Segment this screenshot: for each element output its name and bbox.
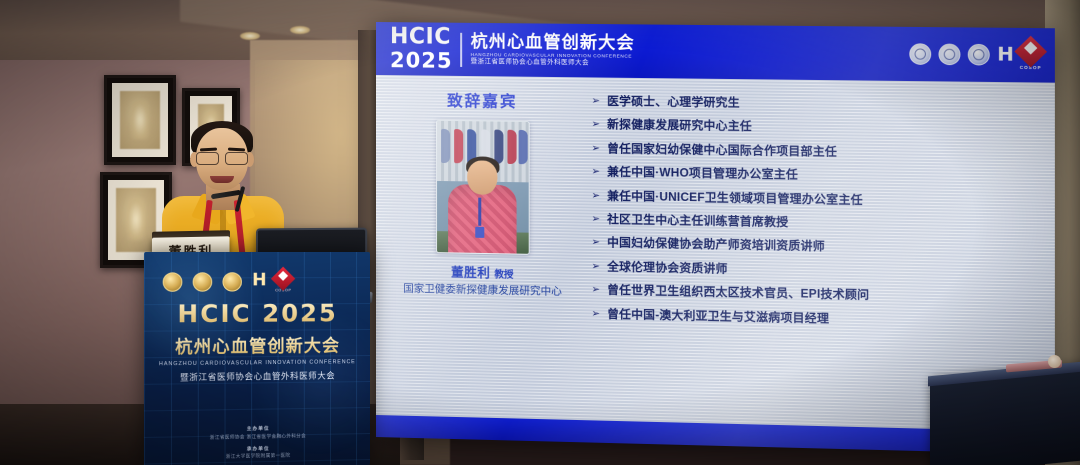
arrow-bullet-icon: ➢ [592,235,601,250]
list-item: ➢ 兼任中国·WHO项目管理办公室主任 [592,164,1041,186]
podium-logo-row: H COSOP [163,270,292,293]
list-item-label: 兼任中国·UNICEF卫生领域项目管理办公室主任 [607,188,863,207]
arrow-bullet-icon: ➢ [592,164,601,179]
hcic-brand-line1: HCIC [390,26,453,49]
podium-lectern: H COSOP HCIC 2025 杭州心血管创新大会 HANGZHOU CAR… [144,252,370,465]
slide-left-column: 致辞嘉宾 [376,75,589,420]
table-cup [1048,355,1061,368]
podium-subtitle-en: HANGZHOU CARDIOVASCULAR INNOVATION CONFE… [144,359,370,367]
podium-title-cn: 杭州心血管创新大会 [144,331,370,358]
downlight-icon [240,32,260,40]
arrow-bullet-icon: ➢ [592,306,601,321]
hcic-wordmark: HCIC 2025 [390,26,453,72]
h-mark-logo-icon: H [997,47,1012,64]
list-item: ➢ 社区卫生中心主任训练营首席教授 [592,212,1041,235]
list-item-label: 曾任国家妇幼保健中心国际合作项目部主任 [607,141,837,159]
downlight-icon [290,26,310,34]
arrow-bullet-icon: ➢ [592,94,601,109]
conference-photo-scene: HCIC 2025 杭州心血管创新大会 HANGZHOU CARDIOVASCU… [0,0,1080,465]
arrow-bullet-icon: ➢ [592,282,601,297]
sponsor-logo-row: H COSOP [909,39,1046,70]
gold-seal-3-icon [222,272,241,291]
speaker-name-caption: 董胜利 教授 [376,260,589,283]
conference-logo-lockup: HCIC 2025 杭州心血管创新大会 HANGZHOU CARDIOVASCU… [390,26,635,74]
conference-subtitle-cn: 暨浙江省医师协会心血管外科医师大会 [471,59,635,68]
gold-seal-2-icon [193,272,213,291]
list-item: ➢ 医学硕士、心理学研究生 [592,94,1041,115]
list-item-label: 兼任中国·WHO项目管理办公室主任 [607,165,798,183]
list-item-label: 新探健康发展研究中心主任 [607,117,752,134]
conference-title-cn: 杭州心血管创新大会 [471,33,635,53]
podium-title-block: HCIC 2025 杭州心血管创新大会 HANGZHOU CARDIOVASCU… [144,299,370,384]
arrow-bullet-icon: ➢ [592,212,601,227]
list-item: ➢ 曾任国家妇幼保健中心国际合作项目部主任 [592,141,1041,163]
arrow-bullet-icon: ➢ [592,259,601,274]
list-item: ➢ 兼任中国·UNICEF卫生领域项目管理办公室主任 [592,188,1041,210]
list-item-label: 曾任世界卫生组织西太区技术官员、EPI技术顾问 [607,283,869,303]
list-item-label: 社区卫生中心主任训练营首席教授 [607,212,788,230]
list-item-label: 全球伦理协会资质讲师 [607,259,728,276]
slide-header: HCIC 2025 杭州心血管创新大会 HANGZHOU CARDIOVASCU… [376,22,1055,83]
section-title: 致辞嘉宾 [376,88,589,113]
cosop-red-icon: COSOP [275,270,292,292]
eyeglasses-icon [196,152,248,164]
speaker-mouth [210,176,234,183]
seal-logo-3-icon [968,44,990,66]
speaker-organization: 国家卫健委新探健康发展研究中心 [376,281,589,301]
list-item: ➢ 新探健康发展研究中心主任 [592,117,1041,138]
speaker-name: 董胜利 [451,265,490,280]
list-item: ➢ 全球伦理协会资质讲师 [592,259,1041,283]
gold-seal-1-icon [163,272,183,291]
list-item: ➢ 曾任中国-澳大利亚卫生与艾滋病项目经理 [592,306,1041,331]
arrow-bullet-icon: ➢ [592,117,601,132]
list-item-label: 曾任中国-澳大利亚卫生与艾滋病项目经理 [607,306,829,326]
logo-divider [461,32,463,66]
list-item: ➢ 中国妇幼保健协会助产师资培训资质讲师 [592,235,1041,258]
h-mark-letter: H [997,44,1012,67]
podium-title-en: HCIC 2025 [144,299,370,329]
hcic-brand-line2: 2025 [390,50,453,72]
seal-logo-2-icon [939,44,961,66]
list-item-label: 中国妇幼保健协会助产师资培训资质讲师 [607,235,825,254]
speaker-rank: 教授 [494,269,513,280]
framed-picture [104,75,176,165]
list-item-label: 医学硕士、心理学研究生 [607,94,740,111]
list-item: ➢ 曾任世界卫生组织西太区技术官员、EPI技术顾问 [592,282,1041,306]
h-mark-gold-icon: H [252,274,264,289]
podium-organizer-block: 主办单位 浙江省医师协会 浙江省医学会胸心外科分会 承办单位 浙江大学医学院附属… [144,424,370,462]
cosop-logo-icon: COSOP [1019,40,1042,70]
host-block: 主办单位 浙江省医师协会 浙江省医学会胸心外科分会 [144,424,370,442]
arrow-bullet-icon: ➢ [592,141,601,156]
podium-h-letter: H [252,271,264,291]
speaker-portrait-photo [436,120,530,255]
arrow-bullet-icon: ➢ [592,188,601,203]
seal-logo-1-icon [909,43,931,65]
conference-title-block: 杭州心血管创新大会 HANGZHOU CARDIOVASCULAR INNOVA… [471,33,635,68]
